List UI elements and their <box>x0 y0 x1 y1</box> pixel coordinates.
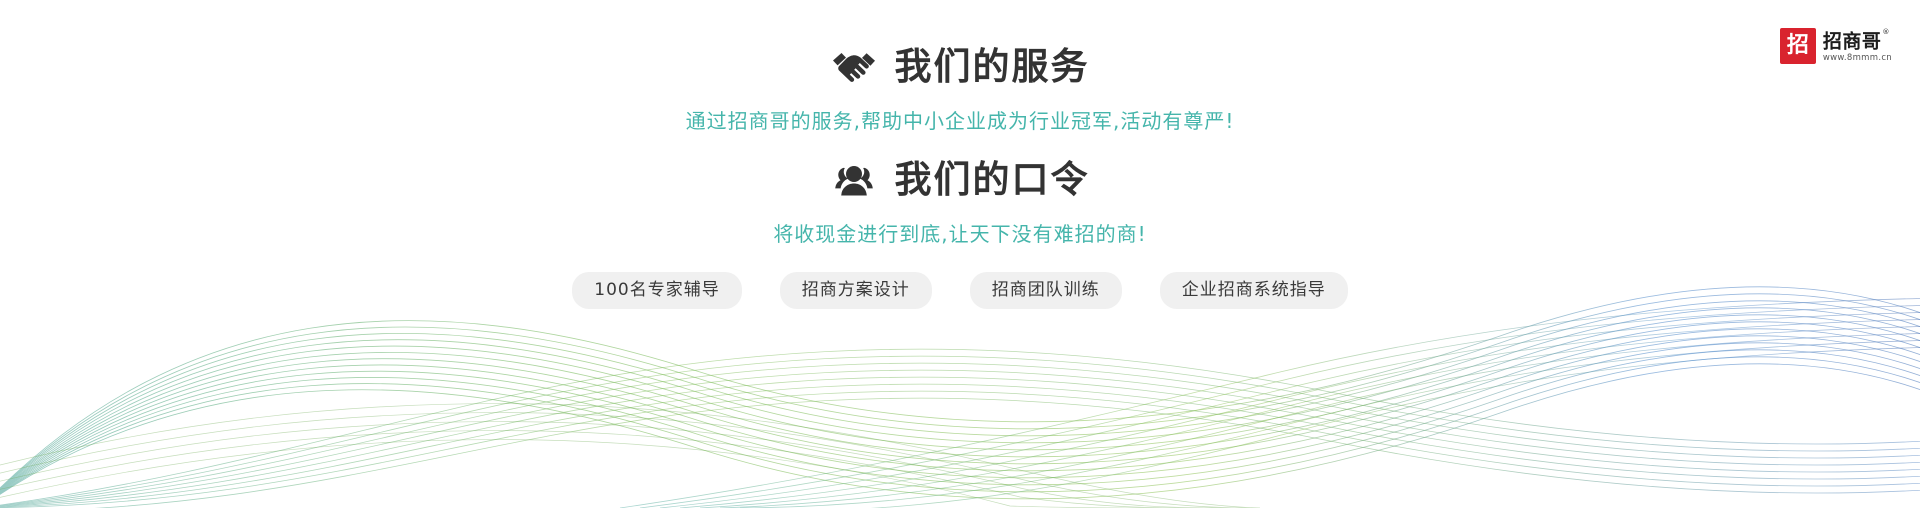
section-heading-service-text: 我们的服务 <box>895 44 1090 90</box>
section-heading-motto-text: 我们的口令 <box>895 157 1090 203</box>
handshake-icon <box>831 47 877 87</box>
tag-expert-coaching[interactable]: 100名专家辅导 <box>572 272 741 309</box>
promo-banner: 招 招商哥® www.8mmm.cn 我们的服务 通过招商哥的服务,帮助 <box>0 0 1920 508</box>
section-subtitle-service: 通过招商哥的服务,帮助中小企业成为行业冠军,活动有尊严! <box>0 107 1920 135</box>
tag-system-guidance[interactable]: 企业招商系统指导 <box>1160 272 1348 309</box>
service-tag-list: 100名专家辅导 招商方案设计 招商团队训练 企业招商系统指导 <box>0 272 1920 309</box>
tag-team-training[interactable]: 招商团队训练 <box>970 272 1122 309</box>
section-heading-motto: 我们的口令 <box>0 157 1920 203</box>
tag-plan-design[interactable]: 招商方案设计 <box>780 272 932 309</box>
banner-content: 我们的服务 通过招商哥的服务,帮助中小企业成为行业冠军,活动有尊严! 我们的口令… <box>0 0 1920 309</box>
section-subtitle-motto: 将收现金进行到底,让天下没有难招的商! <box>0 220 1920 248</box>
section-spacer <box>0 135 1920 157</box>
section-heading-service: 我们的服务 <box>0 44 1920 90</box>
users-group-icon <box>831 160 877 200</box>
